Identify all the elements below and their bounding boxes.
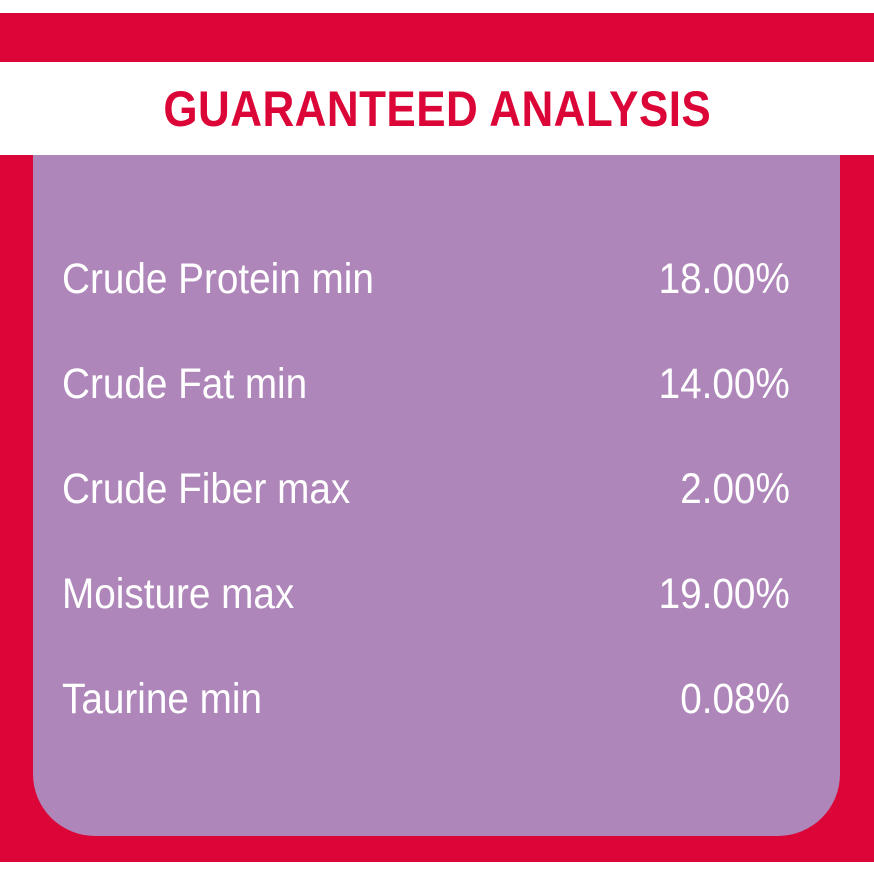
top-red-band	[0, 13, 874, 62]
nutrient-value: 19.00%	[659, 573, 790, 616]
guaranteed-analysis-panel: GUARANTEED ANALYSIS Crude Protein min 18…	[0, 0, 874, 874]
analysis-panel: Crude Protein min 18.00% Crude Fat min 1…	[33, 155, 840, 836]
nutrient-value: 0.08%	[680, 678, 790, 721]
table-row: Moisture max 19.00%	[62, 566, 790, 622]
nutrient-label: Moisture max	[62, 573, 294, 616]
table-row: Taurine min 0.08%	[62, 671, 790, 727]
nutrient-label: Taurine min	[62, 678, 262, 721]
nutrient-label: Crude Fiber max	[62, 468, 350, 511]
title-strip: GUARANTEED ANALYSIS	[0, 62, 874, 155]
table-row: Crude Protein min 18.00%	[62, 251, 790, 307]
nutrient-value: 2.00%	[680, 468, 790, 511]
analysis-table: Crude Protein min 18.00% Crude Fat min 1…	[33, 155, 840, 836]
table-row: Crude Fiber max 2.00%	[62, 461, 790, 517]
nutrient-value: 18.00%	[659, 258, 790, 301]
nutrient-label: Crude Fat min	[62, 363, 307, 406]
nutrient-value: 14.00%	[659, 363, 790, 406]
nutrient-label: Crude Protein min	[62, 258, 374, 301]
bottom-red-band	[0, 838, 874, 862]
page-title: GUARANTEED ANALYSIS	[163, 84, 711, 134]
table-row: Crude Fat min 14.00%	[62, 356, 790, 412]
